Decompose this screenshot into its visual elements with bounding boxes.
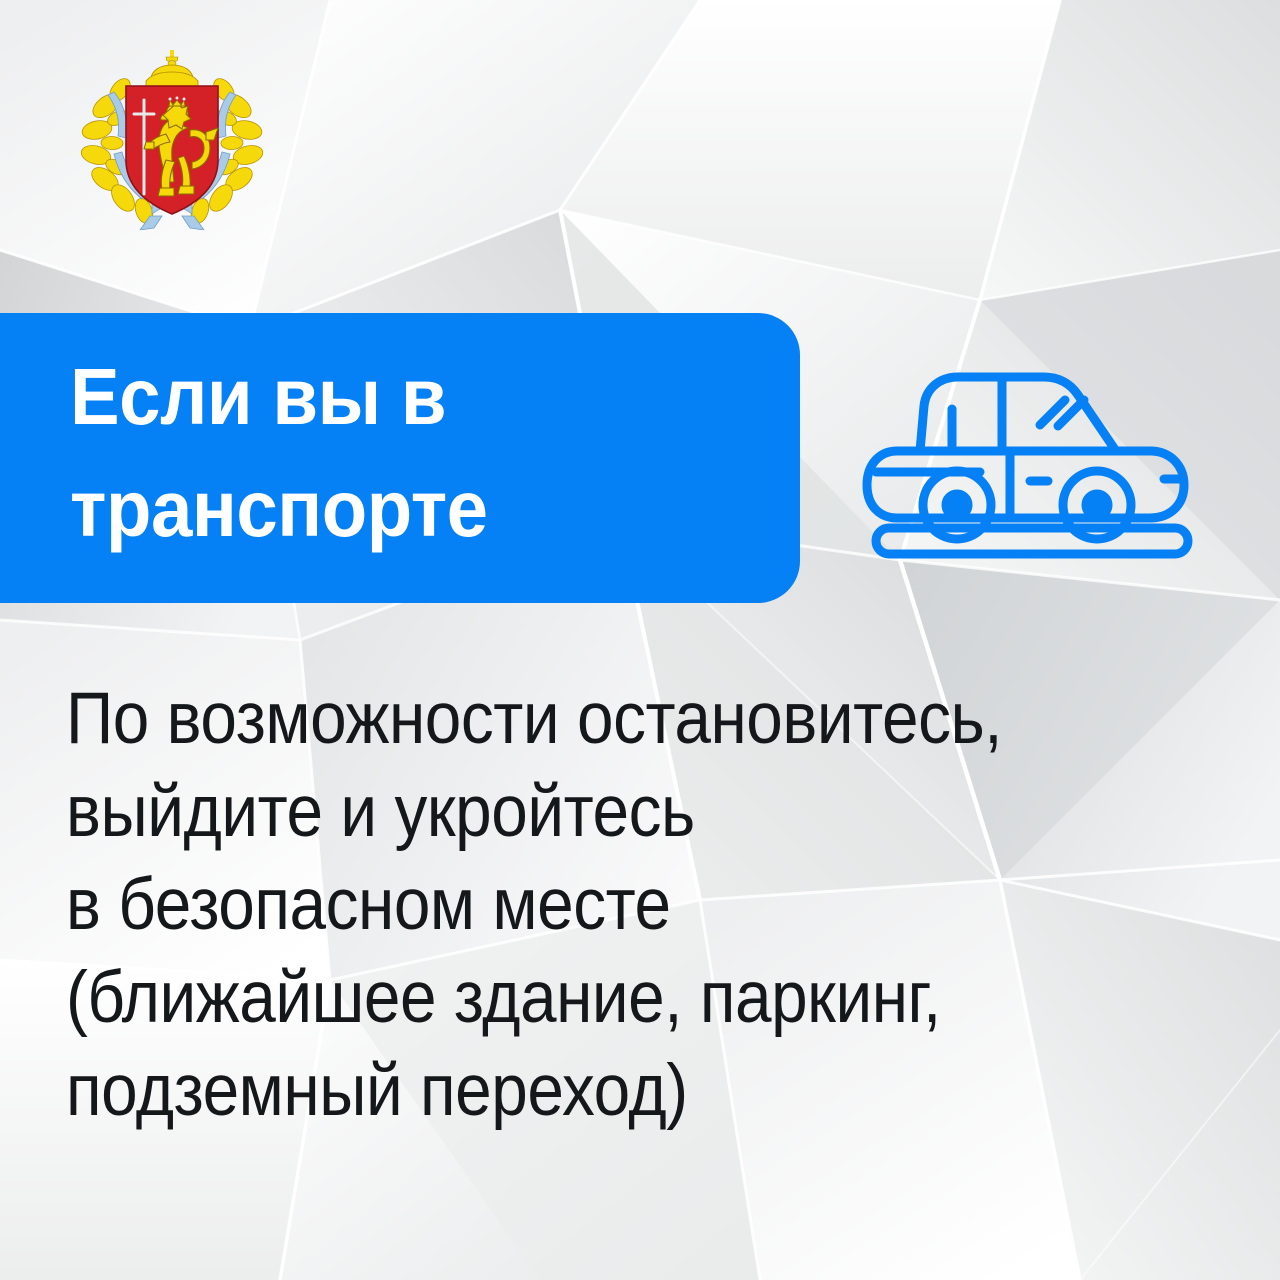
- body-text: По возможности остановитесь, выйдите и у…: [66, 672, 1128, 1137]
- infographic-poster: Если вы в транспорте: [0, 0, 1280, 1280]
- coat-of-arms-icon: [78, 48, 266, 230]
- headline-banner: Если вы в транспорте: [0, 313, 800, 603]
- car-icon: [862, 348, 1202, 563]
- banner-title: Если вы в транспорте: [70, 341, 721, 565]
